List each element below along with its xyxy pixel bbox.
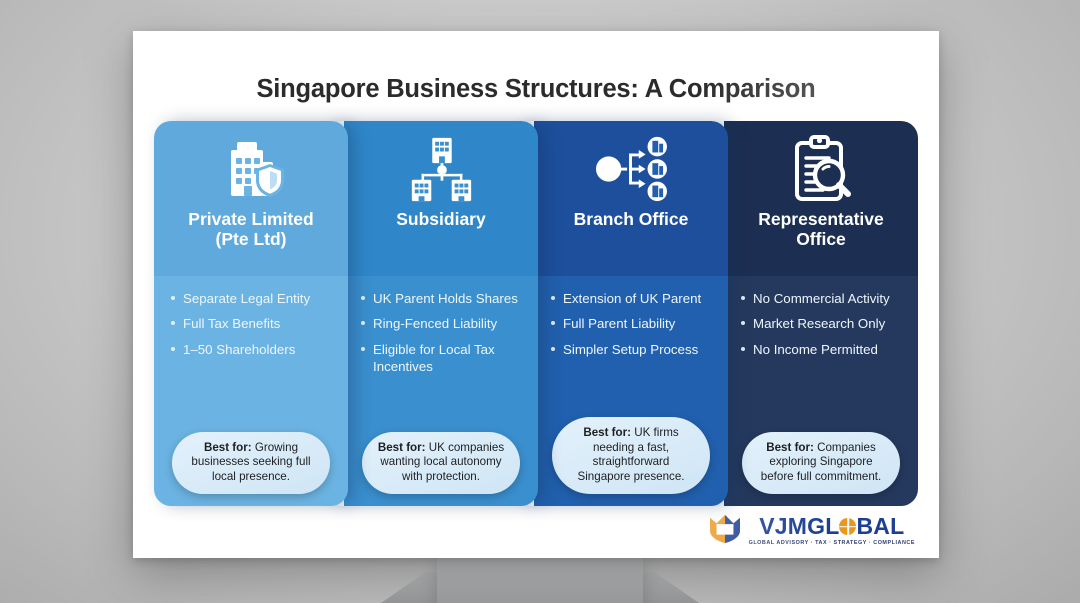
list-item: Eligible for Local Tax Incentives: [360, 341, 524, 376]
logo-tagline: GLOBAL ADVISORY · TAX · STRATEGY · COMPL…: [749, 540, 915, 546]
best-for-label: Best for:: [204, 441, 252, 454]
column-title-line1: Private Limited: [188, 209, 313, 229]
column-header: Representative Office: [724, 121, 918, 276]
comparison-columns: Private Limited (Pte Ltd) Separate Legal…: [154, 121, 918, 506]
column-private-limited[interactable]: Private Limited (Pte Ltd) Separate Legal…: [154, 121, 348, 506]
column-title-line2: (Pte Ltd): [216, 229, 287, 249]
list-item: UK Parent Holds Shares: [360, 290, 524, 307]
logo-wordmark-vjm: VJM: [759, 515, 807, 538]
column-subsidiary[interactable]: Subsidiary UK Parent Holds Shares Ring-F…: [326, 121, 538, 506]
best-for-label: Best for:: [378, 441, 426, 454]
monitor-stand-neck: [437, 556, 643, 603]
column-title-line1: Subsidiary: [396, 209, 485, 229]
best-for-label: Best for:: [583, 426, 631, 439]
column-representative-office[interactable]: Representative Office No Commercial Acti…: [706, 121, 918, 506]
feature-list: UK Parent Holds Shares Ring-Fenced Liabi…: [360, 290, 524, 383]
feature-list: No Commercial Activity Market Research O…: [740, 290, 904, 366]
list-item: Extension of UK Parent: [550, 290, 714, 307]
globe-o-icon: [839, 518, 856, 535]
column-title-line2: Office: [796, 229, 846, 249]
list-item: Market Research Only: [740, 315, 904, 332]
building-shield-icon: [215, 121, 287, 209]
column-body: No Commercial Activity Market Research O…: [724, 276, 918, 506]
list-item: Ring-Fenced Liability: [360, 315, 524, 332]
list-item: No Income Permitted: [740, 341, 904, 358]
logo-wordmark-gl: GL: [807, 515, 839, 538]
monitor-screen: Singapore Business Structures: A Compari…: [133, 31, 939, 558]
logo-text: VJMGLBAL GLOBAL ADVISORY · TAX · STRATEG…: [749, 515, 915, 546]
shield-crown-icon: [708, 513, 742, 548]
brand-footer: VJMGLBAL GLOBAL ADVISORY · TAX · STRATEG…: [708, 513, 915, 548]
list-item: Full Tax Benefits: [170, 315, 334, 332]
column-header: Branch Office: [534, 121, 728, 276]
column-title: Representative Office: [752, 209, 889, 250]
list-item: No Commercial Activity: [740, 290, 904, 307]
list-item: Separate Legal Entity: [170, 290, 334, 307]
best-for-badge: Best for: UK companies wanting local aut…: [362, 432, 520, 494]
column-title-line1: Branch Office: [574, 209, 689, 229]
column-title: Subsidiary: [390, 209, 491, 229]
feature-list: Extension of UK Parent Full Parent Liabi…: [550, 290, 714, 366]
infographic-slide: Singapore Business Structures: A Compari…: [133, 31, 939, 558]
org-chart-buildings-icon: [406, 121, 476, 209]
column-title-line1: Representative: [758, 209, 883, 229]
node-branch-buildings-icon: [593, 121, 669, 209]
column-header: Private Limited (Pte Ltd): [154, 121, 348, 276]
column-body: Extension of UK Parent Full Parent Liabi…: [534, 276, 728, 506]
logo-wordmark: VJMGLBAL: [759, 515, 904, 538]
list-item: 1–50 Shareholders: [170, 341, 334, 358]
list-item: Full Parent Liability: [550, 315, 714, 332]
column-body: Separate Legal Entity Full Tax Benefits …: [154, 276, 348, 506]
column-branch-office[interactable]: Branch Office Extension of UK Parent Ful…: [516, 121, 728, 506]
page-title: Singapore Business Structures: A Compari…: [154, 75, 918, 104]
best-for-badge: Best for: UK firms needing a fast, strai…: [552, 417, 710, 494]
logo-wordmark-bal: BAL: [856, 515, 904, 538]
column-header: Subsidiary: [344, 121, 538, 276]
list-item: Simpler Setup Process: [550, 341, 714, 358]
best-for-badge: Best for: Growing businesses seeking ful…: [172, 432, 330, 494]
best-for-label: Best for:: [766, 441, 814, 454]
clipboard-magnifier-icon: [785, 121, 857, 209]
column-title: Branch Office: [568, 209, 695, 229]
best-for-badge: Best for: Companies exploring Singapore …: [742, 432, 900, 494]
column-body: UK Parent Holds Shares Ring-Fenced Liabi…: [344, 276, 538, 506]
feature-list: Separate Legal Entity Full Tax Benefits …: [170, 290, 334, 366]
column-title: Private Limited (Pte Ltd): [182, 209, 319, 250]
